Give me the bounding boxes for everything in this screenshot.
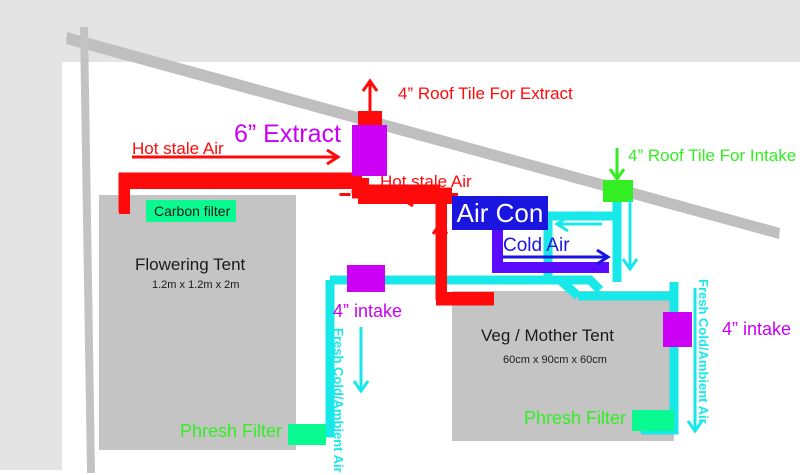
label-hot-stale-air-left: Hot stale Air bbox=[132, 140, 224, 157]
label-roof-tile-intake: 4” Roof Tile For Intake bbox=[628, 147, 796, 164]
phresh-filter-right-box[interactable] bbox=[632, 410, 674, 431]
label-phresh-filter-right: Phresh Filter bbox=[524, 409, 626, 427]
extract-fan-box[interactable] bbox=[352, 125, 387, 176]
phresh-filter-left-box[interactable] bbox=[288, 424, 326, 445]
roof-tile-intake-box[interactable] bbox=[603, 180, 633, 202]
air-con-label: Air Con bbox=[457, 198, 544, 229]
label-extract-6in: 6” Extract bbox=[234, 122, 341, 147]
label-intake-4in-right: 4” intake bbox=[722, 320, 791, 338]
label-cold-air: Cold Air bbox=[503, 236, 570, 255]
label-hot-stale-air-right: Hot stale Air bbox=[380, 173, 472, 190]
roof-tile-extract-box[interactable] bbox=[358, 111, 382, 127]
label-carbon-filter: Carbon filter bbox=[154, 204, 230, 218]
label-fresh-cold-air-right: Fresh Cold/Ambient Air bbox=[697, 279, 710, 424]
diagram-vector-layer bbox=[0, 0, 800, 475]
label-flowering-tent: Flowering Tent bbox=[135, 256, 245, 273]
label-flowering-tent-size: 1.2m x 1.2m x 2m bbox=[152, 280, 239, 291]
label-veg-mother-tent-size: 60cm x 90cm x 60cm bbox=[503, 355, 607, 366]
flowering-tent-body bbox=[99, 195, 296, 450]
label-fresh-cold-air-left: Fresh Cold/Ambient Air bbox=[332, 328, 345, 473]
label-intake-4in-left: 4” intake bbox=[333, 302, 402, 320]
ventilation-diagram-canvas: 4” Roof Tile For Extract 4” Roof Tile Fo… bbox=[0, 0, 800, 475]
label-veg-mother-tent: Veg / Mother Tent bbox=[481, 327, 614, 344]
intake-fan-left-box[interactable] bbox=[347, 265, 385, 292]
label-roof-tile-extract: 4” Roof Tile For Extract bbox=[398, 85, 573, 102]
background-grey-left bbox=[0, 0, 62, 470]
label-phresh-filter-left: Phresh Filter bbox=[180, 422, 282, 440]
intake-fan-right-box[interactable] bbox=[663, 312, 692, 347]
air-con-unit[interactable]: Air Con bbox=[452, 196, 548, 230]
